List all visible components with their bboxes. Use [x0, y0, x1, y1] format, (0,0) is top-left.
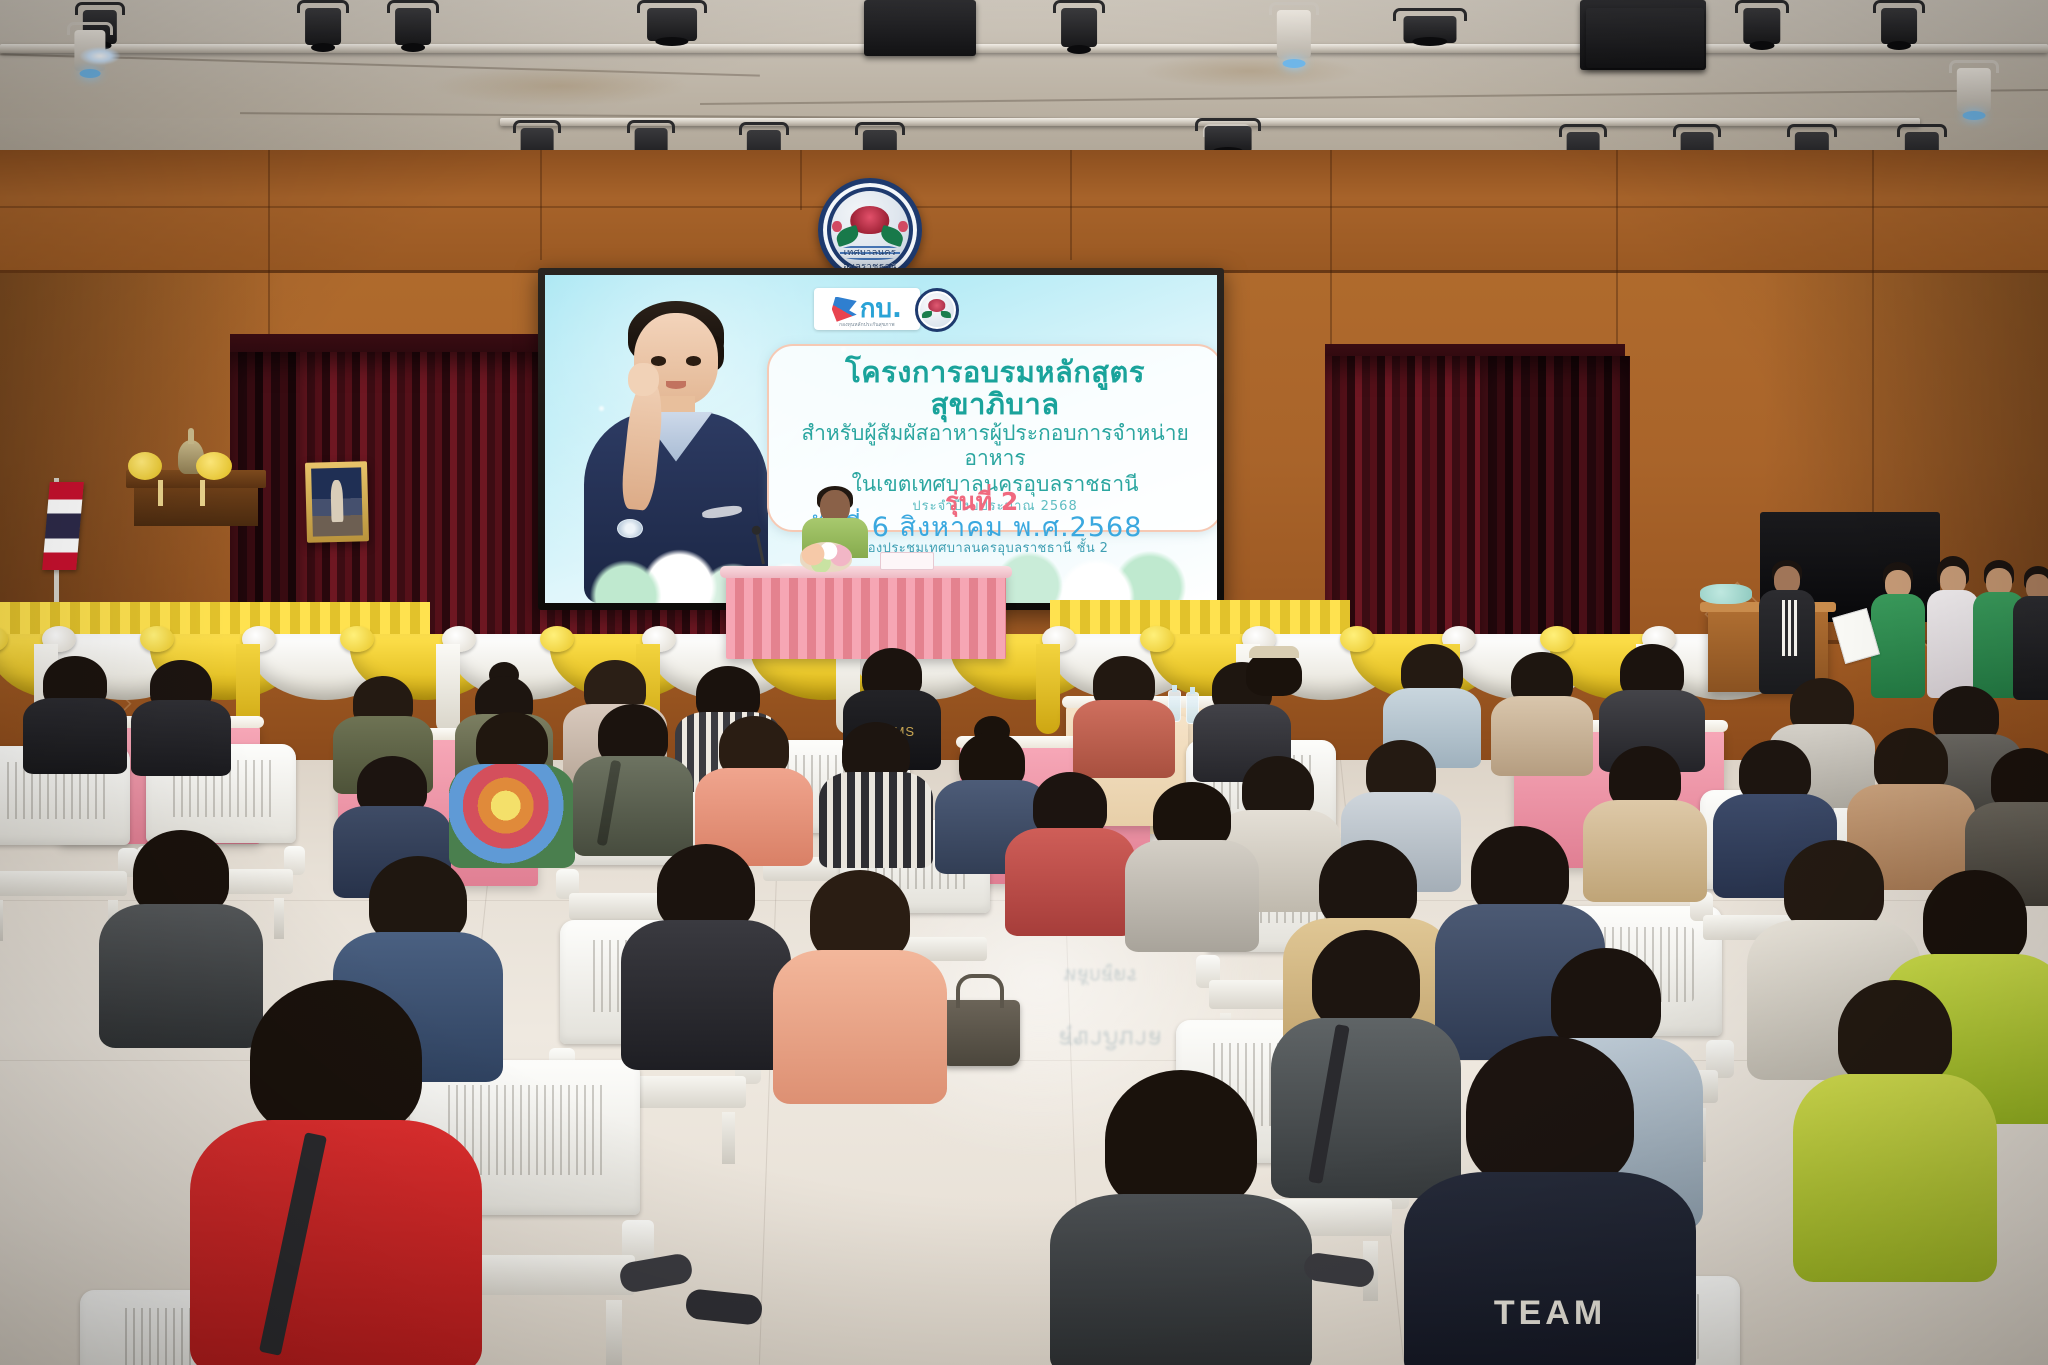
flood-light [1198, 118, 1258, 152]
wall-seam [800, 150, 802, 210]
staff-shirt-stripes [1782, 600, 1798, 656]
handbag-on-floor [940, 1000, 1020, 1066]
floor-reflection-line-2: หลักสูตร [980, 960, 1220, 992]
tee-text: TEAM [1494, 1294, 1606, 1333]
municipality-emblem: เทศบาลนครอุบลราชธานี [818, 178, 922, 282]
audience-member [20, 656, 130, 766]
staff-body [2013, 596, 2048, 700]
kbk-logo-text: กบ. [860, 296, 902, 322]
nurse-eye [651, 356, 666, 365]
emblem-bud [832, 221, 841, 232]
audience-member [570, 704, 696, 850]
royal-portrait-frame [305, 461, 369, 543]
flood-light [640, 0, 704, 42]
audience-member [816, 722, 936, 862]
wall-seam [0, 206, 2048, 208]
portrait-figure [330, 480, 343, 522]
ceiling-stain [430, 66, 690, 106]
stage-curtain-right-dark [1480, 356, 1630, 656]
staff-dark-shirt [2010, 566, 2048, 706]
name-card [880, 552, 934, 570]
logo-leaf [922, 311, 932, 318]
audience-member [618, 844, 794, 1064]
audience-member [1070, 656, 1178, 770]
audience-member [692, 716, 816, 858]
flower-offering-left [128, 452, 162, 480]
logo-lotus [928, 299, 945, 311]
moving-head-light [1272, 2, 1316, 64]
presentation-title: โครงการอบรมหลักสูตรสุขาภิบาล [787, 356, 1204, 421]
buddha-finial [188, 428, 194, 444]
ceiling-speaker [864, 0, 976, 56]
audience-member-tiedye [446, 712, 578, 862]
altar-table [134, 488, 258, 526]
head-table [726, 570, 1006, 659]
audience-member [770, 870, 950, 1100]
audience-member [126, 660, 236, 770]
nurse-chest-logo [701, 505, 742, 520]
cap [1249, 646, 1299, 658]
conference-hall-photo: เทศบาลนครอุบลราชธานี กบ. กอง [0, 0, 2048, 1365]
ceiling-speaker [1586, 8, 1704, 68]
wall-seam [540, 150, 542, 260]
nurse-fist [628, 363, 659, 397]
stage-light [1056, 0, 1102, 50]
flood-light [1396, 8, 1464, 42]
stage-light [390, 0, 436, 48]
wall-seam [1070, 150, 1072, 260]
ceiling-stain [1140, 54, 1360, 88]
audience-member-foreground-team: TEAM [1400, 1036, 1700, 1365]
audience-member [1790, 980, 2000, 1280]
ceiling-downlight [80, 47, 120, 65]
proscenium-header [0, 150, 2048, 273]
audience-member [1002, 772, 1138, 932]
presentation-subtitle-1: สำหรับผู้สัมผัสอาหารผู้ประกอบการจำหน่ายอ… [787, 421, 1204, 471]
logo-leaf [941, 311, 951, 318]
nurse-mouth [666, 381, 687, 389]
stage-light [300, 0, 346, 48]
kbk-mark-icon [832, 297, 857, 322]
stage-light [1876, 0, 1922, 46]
candle [200, 480, 205, 506]
moving-head-light [1952, 60, 1996, 116]
staff-body [1871, 594, 1925, 698]
royal-portrait-image [311, 467, 363, 536]
podium-flowers [1700, 584, 1752, 604]
kbk-logo-subtext: กองทุนหลักประกันสุขภาพ [814, 321, 920, 329]
municipality-logo-on-screen [915, 288, 959, 332]
audience-member [1122, 782, 1262, 950]
emblem-bud [898, 221, 907, 232]
flower-offering-right [196, 452, 232, 480]
kbk-fund-logo: กบ. กองทุนหลักประกันสุขภาพ [814, 288, 920, 330]
candle [158, 480, 163, 506]
audience-member-foreground-red [186, 980, 486, 1365]
table-flower-arrangement [800, 542, 852, 572]
nurse-eye [686, 356, 701, 365]
audience-member-foreground [1046, 1070, 1316, 1365]
stage-light [1738, 0, 1786, 46]
audience-member-cap [1226, 650, 1322, 750]
